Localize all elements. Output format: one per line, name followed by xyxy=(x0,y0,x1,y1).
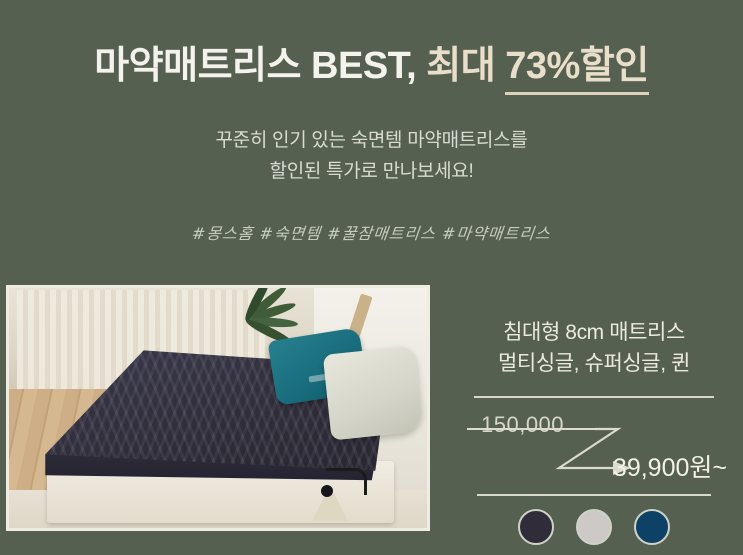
price-block: 150,000 39,900원~ xyxy=(455,406,733,492)
headline: 마약매트리스 BEST, 최대 73%할인 xyxy=(0,44,743,90)
product-photo[interactable] xyxy=(6,285,430,531)
photo-pillow-gray xyxy=(322,346,422,442)
promo-banner: 마약매트리스 BEST, 최대 73%할인 꾸준히 인기 있는 숙면템 마약매트… xyxy=(0,0,743,555)
product-name: 침대형 8cm 매트리스 멀티싱글, 슈퍼싱글, 퀸 xyxy=(455,318,733,379)
product-info: 침대형 8cm 매트리스 멀티싱글, 슈퍼싱글, 퀸 150,000 39,90… xyxy=(455,318,733,545)
color-swatch-charcoal-purple[interactable] xyxy=(518,509,554,545)
photo-lamp xyxy=(297,468,381,521)
product-name-line-1: 침대형 8cm 매트리스 xyxy=(455,318,733,349)
old-price: 150,000 xyxy=(481,412,564,438)
color-swatches xyxy=(455,509,733,545)
subtitle-line-1: 꾸준히 인기 있는 숙면템 마약매트리스를 xyxy=(0,126,743,157)
color-swatch-navy-blue[interactable] xyxy=(634,509,670,545)
product-name-line-2: 멀티싱글, 슈퍼싱글, 퀸 xyxy=(455,349,733,380)
color-swatch-light-gray[interactable] xyxy=(576,509,612,545)
subtitle-line-2: 할인된 특가로 만나보세요! xyxy=(0,157,743,188)
divider-bottom xyxy=(477,494,711,496)
headline-accent: 최대 xyxy=(426,45,505,87)
subtitle: 꾸준히 인기 있는 숙면템 마약매트리스를 할인된 특가로 만나보세요! xyxy=(0,126,743,188)
new-price: 39,900원~ xyxy=(613,448,727,484)
strikethrough-line xyxy=(467,428,595,430)
product-photo-scene xyxy=(9,288,427,528)
headline-discount: 73%할인 xyxy=(505,45,648,95)
headline-main: 마약매트리스 BEST, xyxy=(94,45,426,87)
hashtags: #몽스홈 #숙면템 #꿀잠매트리스 #마약매트리스 xyxy=(0,220,743,244)
divider-top xyxy=(474,396,714,398)
